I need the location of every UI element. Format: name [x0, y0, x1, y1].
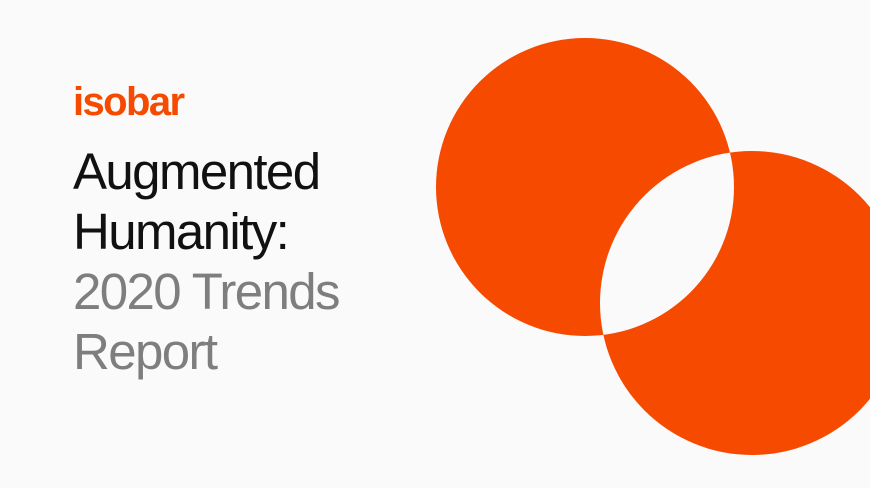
title-text-block: isobar Augmented Humanity: 2020 Trends R… — [73, 78, 413, 382]
subhead-line-2: Report — [73, 322, 413, 382]
venn-knockout-path — [436, 38, 870, 455]
subhead-line-1: 2020 Trends — [73, 262, 413, 322]
slide-canvas: isobar Augmented Humanity: 2020 Trends R… — [0, 0, 870, 488]
page-subtitle: 2020 Trends Report — [73, 262, 413, 382]
headline-line-2: Humanity: — [73, 202, 413, 262]
page-title: Augmented Humanity: — [73, 142, 413, 262]
headline-line-1: Augmented — [73, 142, 413, 202]
isobar-logo-wordmark: isobar — [73, 78, 413, 126]
